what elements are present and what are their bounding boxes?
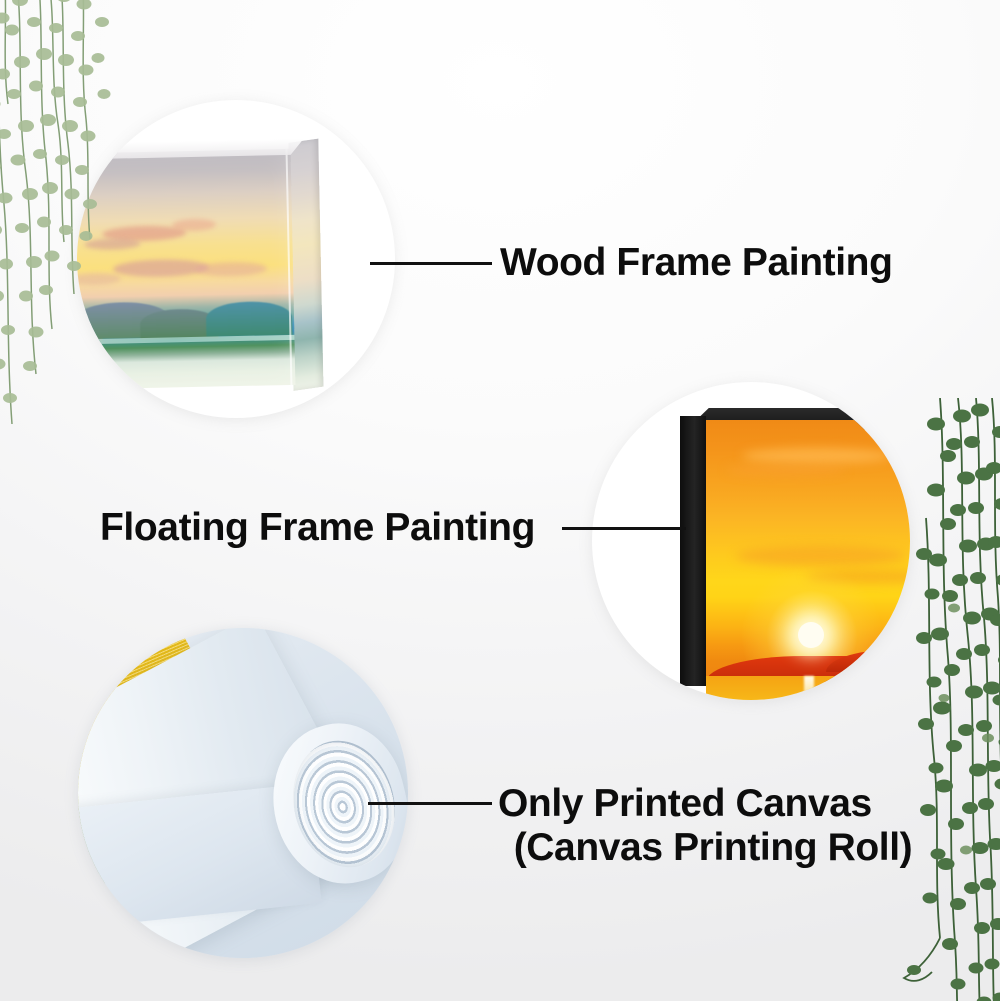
wood-frame-painting bbox=[77, 142, 330, 398]
label-printed-canvas: Only Printed Canvas (Canvas Printing Rol… bbox=[498, 782, 928, 869]
leader-line-printed-canvas bbox=[368, 802, 492, 805]
floating-frame-left-edge bbox=[680, 416, 706, 686]
leader-line-wood-frame bbox=[370, 262, 492, 265]
wood-frame-photo-circle bbox=[77, 100, 395, 418]
label-printed-canvas-line1: Only Printed Canvas bbox=[498, 782, 928, 826]
label-floating-frame: Floating Frame Painting bbox=[100, 507, 535, 548]
label-printed-canvas-line2: (Canvas Printing Roll) bbox=[498, 826, 928, 870]
wood-frame-artwork bbox=[77, 149, 295, 390]
label-wood-frame: Wood Frame Painting bbox=[500, 242, 893, 283]
leader-line-floating-frame bbox=[562, 527, 686, 530]
hanging-vine-dark-icon bbox=[900, 398, 1000, 1001]
floating-frame-photo-circle bbox=[592, 382, 910, 700]
printed-canvas-photo-circle bbox=[78, 628, 408, 958]
floating-frame-painting bbox=[680, 408, 910, 688]
infographic-canvas: Wood Frame Painting Floating Frame Paint… bbox=[0, 0, 1000, 1001]
floating-frame-artwork bbox=[706, 420, 910, 688]
